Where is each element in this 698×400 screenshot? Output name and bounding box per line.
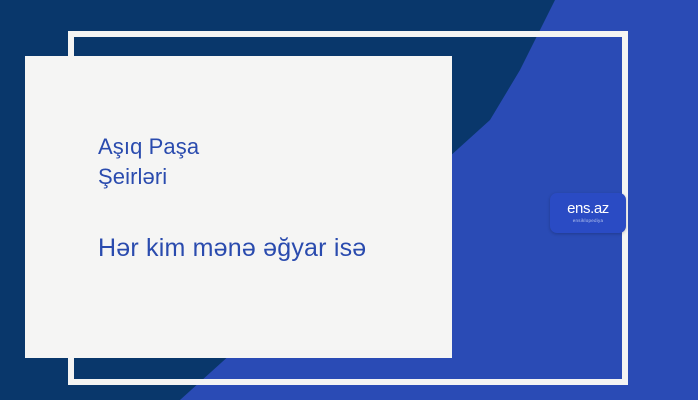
poem-title: Hər kim mənə əğyar isə: [98, 232, 434, 264]
subject-heading: Aşıq Paşa Şeirləri: [98, 132, 434, 192]
ensaz-tagline: ensiklopediya: [573, 217, 604, 225]
content-card-inner: Aşıq Paşa Şeirləri Hər kim mənə əğyar is…: [98, 132, 434, 264]
content-card: Aşıq Paşa Şeirləri Hər kim mənə əğyar is…: [25, 56, 452, 358]
ensaz-logo-badge[interactable]: ens.az ensiklopediya: [550, 193, 626, 233]
poster-canvas: Aşıq Paşa Şeirləri Hər kim mənə əğyar is…: [0, 0, 698, 400]
ensaz-wordmark: ens.az: [567, 201, 609, 216]
